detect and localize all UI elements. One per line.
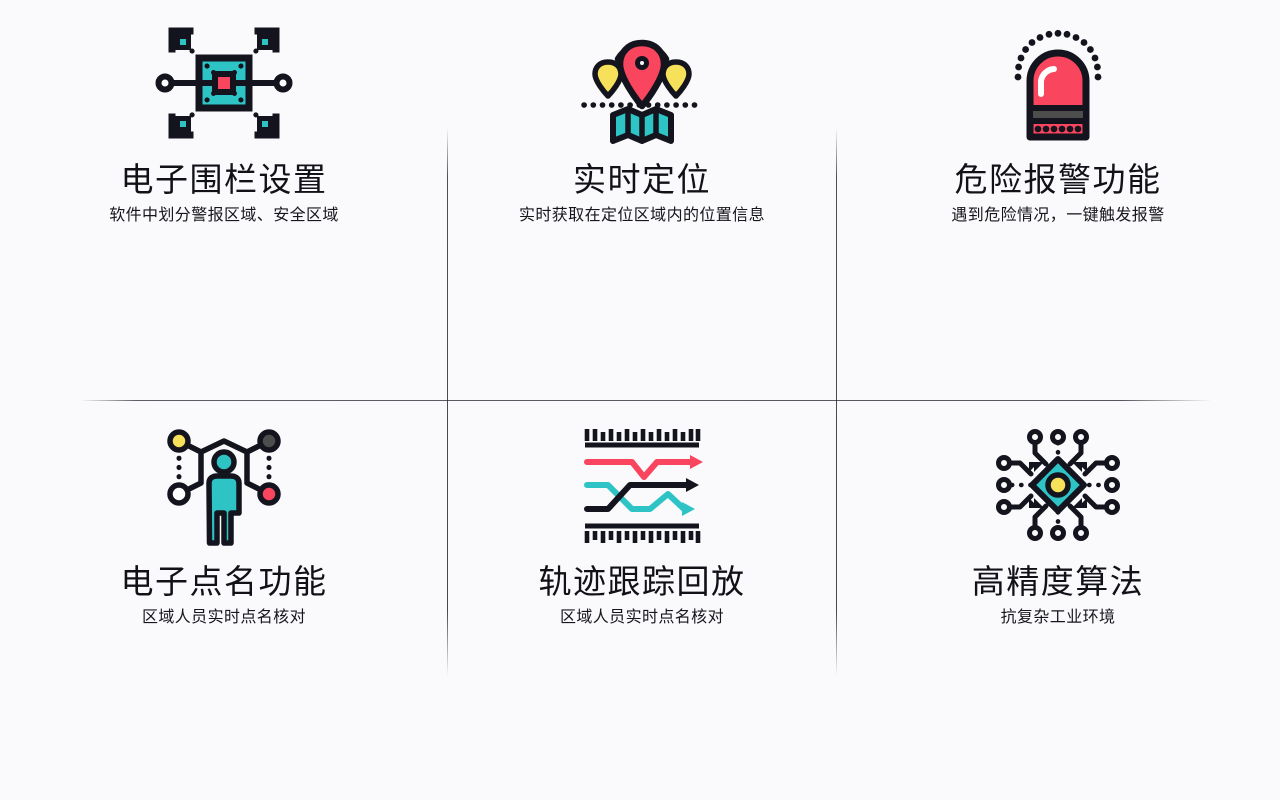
feature-cell-realtime-location[interactable]: 实时定位 实时获取在定位区域内的位置信息 [448, 0, 836, 400]
danger-alarm-light-icon [983, 18, 1133, 148]
geofence-icon [149, 18, 299, 148]
feature-cell-high-precision-algorithm[interactable]: 高精度算法 抗复杂工业环境 [836, 400, 1280, 800]
realtime-location-map-icon [567, 18, 717, 148]
feature-title: 轨迹跟踪回放 [539, 564, 746, 601]
electronic-roll-call-icon [149, 420, 299, 550]
feature-subtitle: 抗复杂工业环境 [1001, 608, 1116, 627]
feature-subtitle: 区域人员实时点名核对 [142, 608, 306, 627]
feature-title: 危险报警功能 [955, 162, 1162, 199]
feature-subtitle: 区域人员实时点名核对 [560, 608, 724, 627]
feature-cell-roll-call[interactable]: 电子点名功能 区域人员实时点名核对 [0, 400, 448, 800]
feature-subtitle: 软件中划分警报区域、安全区域 [109, 206, 339, 225]
feature-title: 实时定位 [573, 162, 711, 199]
feature-title: 电子点名功能 [121, 564, 328, 601]
high-precision-algorithm-icon [983, 420, 1133, 550]
feature-cell-trajectory-playback[interactable]: 轨迹跟踪回放 区域人员实时点名核对 [448, 400, 836, 800]
feature-subtitle: 遇到危险情况，一键触发报警 [951, 206, 1164, 225]
feature-title: 电子围栏设置 [121, 162, 328, 199]
trajectory-playback-icon [567, 420, 717, 550]
feature-cell-danger-alarm[interactable]: 危险报警功能 遇到危险情况，一键触发报警 [836, 0, 1280, 400]
feature-grid: 电子围栏设置 软件中划分警报区域、安全区域 实 [0, 0, 1280, 800]
feature-subtitle: 实时获取在定位区域内的位置信息 [519, 206, 765, 225]
feature-cell-geofence[interactable]: 电子围栏设置 软件中划分警报区域、安全区域 [0, 0, 448, 400]
feature-title: 高精度算法 [972, 564, 1145, 601]
